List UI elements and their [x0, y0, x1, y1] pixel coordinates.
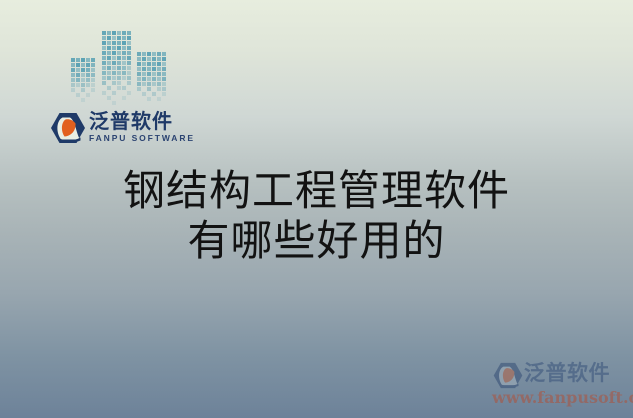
watermark: 泛普软件 www.fanpusoft.com [490, 358, 630, 416]
watermark-url: www.fanpusoft.com [492, 388, 633, 408]
brand-logo: 泛普软件 FANPU SOFTWARE [49, 110, 189, 152]
brand-name-en: FANPU SOFTWARE [89, 133, 189, 144]
banner-image: 泛普软件 FANPU SOFTWARE 钢结构工程管理软件 有哪些好用的 泛普软… [0, 0, 633, 418]
watermark-brand-cn: 泛普软件 [524, 360, 610, 386]
fanpu-hexagon-logo-icon [492, 362, 524, 389]
brand-name-cn: 泛普软件 [89, 110, 189, 133]
pixel-building-skyline-icon [70, 27, 175, 109]
fanpu-hexagon-logo-icon [49, 112, 87, 144]
page-title-line-1: 钢结构工程管理软件 [0, 166, 633, 216]
page-title-line-2: 有哪些好用的 [0, 216, 633, 266]
brand-wordmark: 泛普软件 FANPU SOFTWARE [89, 110, 189, 150]
page-title: 钢结构工程管理软件 有哪些好用的 [0, 166, 633, 266]
